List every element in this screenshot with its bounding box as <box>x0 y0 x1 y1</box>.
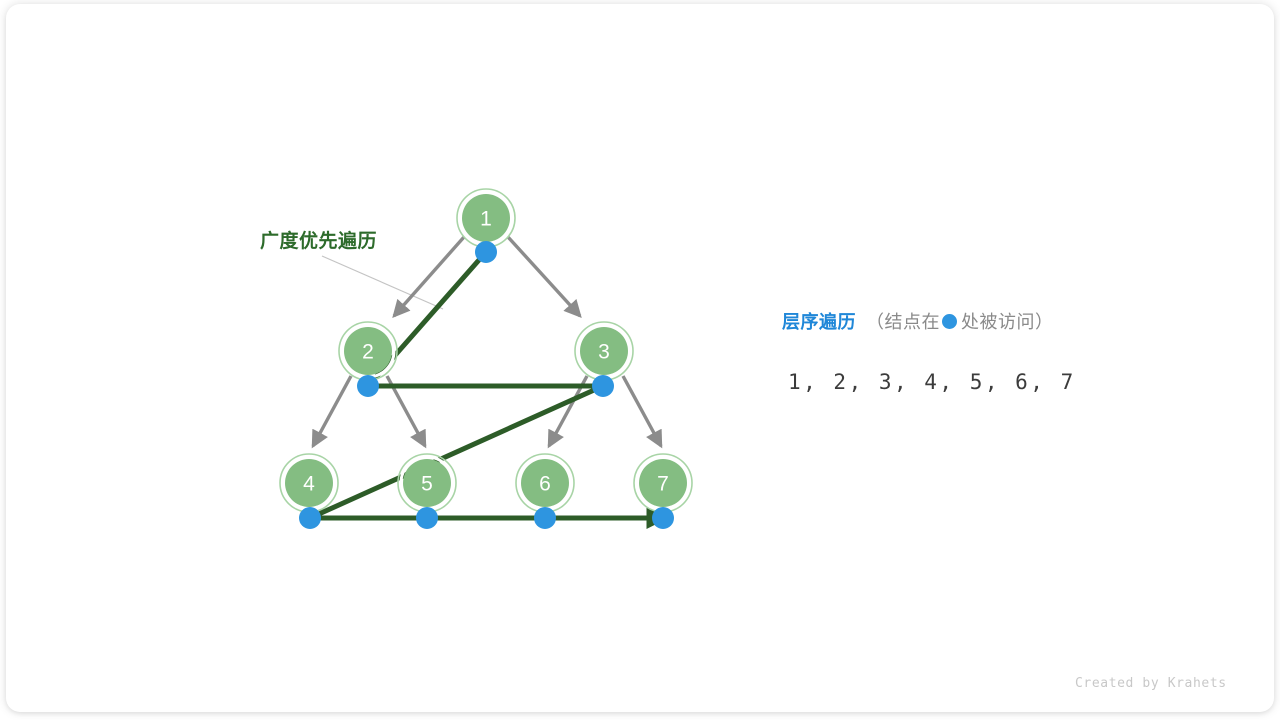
node-label: 7 <box>657 473 669 496</box>
visit-dot-4[interactable] <box>299 507 321 529</box>
visit-dot-5[interactable] <box>416 507 438 529</box>
visit-dot-3[interactable] <box>592 375 614 397</box>
tree-edge-1-2 <box>394 237 464 316</box>
node-label: 6 <box>539 473 551 496</box>
visit-dot-2[interactable] <box>357 375 379 397</box>
node-label: 5 <box>421 473 433 496</box>
binary-tree-diagram: 1 2 3 <box>6 4 1274 712</box>
tree-node-3[interactable]: 3 <box>575 322 633 380</box>
slide-card: 1 2 3 <box>6 4 1274 712</box>
tree-node-4[interactable]: 4 <box>280 454 338 512</box>
visit-dot-6[interactable] <box>534 507 556 529</box>
visit-dot-icon <box>942 314 957 329</box>
node-label: 4 <box>303 473 315 496</box>
diagram-stage: 1 2 3 <box>6 4 1274 712</box>
tree-edge-2-4 <box>313 376 351 446</box>
legend-line: 层序遍历（结点在处被访问） <box>782 308 1054 334</box>
legend-suffix: 处被访问） <box>961 312 1054 332</box>
visit-dot-7[interactable] <box>652 507 674 529</box>
tree-node-6[interactable]: 6 <box>516 454 574 512</box>
visit-dot-1[interactable] <box>475 241 497 263</box>
legend-title: 层序遍历 <box>782 312 856 332</box>
tree-node-1[interactable]: 1 <box>457 189 515 247</box>
traversal-sequence: 1, 2, 3, 4, 5, 6, 7 <box>788 370 1076 394</box>
legend-prefix: （结点在 <box>866 312 940 332</box>
tree-edge-1-3 <box>508 237 580 316</box>
tree-node-2[interactable]: 2 <box>339 322 397 380</box>
tree-edge-3-7 <box>623 376 661 446</box>
bfs-annotation-label: 广度优先遍历 <box>260 226 377 253</box>
tree-node-7[interactable]: 7 <box>634 454 692 512</box>
node-label: 2 <box>362 341 374 364</box>
node-label: 1 <box>480 208 492 231</box>
tree-node-5[interactable]: 5 <box>398 454 456 512</box>
node-label: 3 <box>598 341 610 364</box>
credit-watermark: Created by Krahets <box>1075 676 1227 691</box>
